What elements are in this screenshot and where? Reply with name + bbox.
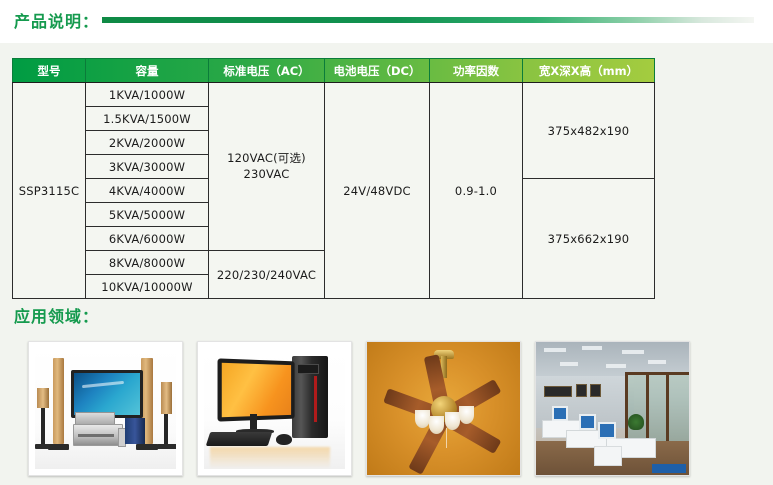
desk-monitor: [552, 406, 568, 421]
thumbnail-ceiling-fan[interactable]: 吊扇: [366, 341, 521, 476]
av-receiver: [73, 424, 123, 446]
home-theater-image: 家庭影院: [35, 348, 176, 469]
table-row: SSP3115C 1KVA/1000W 120VAC(可选) 230VAC 24…: [13, 83, 655, 107]
section-title-applications: 应用领域：: [14, 303, 99, 327]
spec-table-header-row: 型号 容量 标准电压（AC） 电池电压（DC） 功率因数 宽X深X高（mm）: [13, 59, 655, 83]
spec-table-body: SSP3115C 1KVA/1000W 120VAC(可选) 230VAC 24…: [13, 83, 655, 299]
speaker-base-right: [136, 444, 158, 450]
cell-dimensions-group-2: 375x662x190: [523, 179, 655, 299]
wall-artwork: [590, 384, 601, 397]
section-heading-product-description: 产品说明：: [14, 8, 754, 32]
keyboard: [206, 432, 273, 446]
column-header-ac-voltage: 标准电压（AC）: [209, 59, 325, 83]
cell-capacity-value: 5KVA/5000W: [86, 203, 209, 227]
office-interior-image: 办公室: [536, 342, 689, 475]
column-header-capacity: 容量: [86, 59, 209, 83]
speaker-stand-left: [41, 408, 45, 444]
ac-voltage-line-2: 230VAC: [209, 167, 324, 183]
ac-voltage-line-1: 120VAC(可选): [209, 151, 324, 167]
cell-capacity-value: 4KVA/4000W: [86, 179, 209, 203]
column-header-dimensions: 宽X深X高（mm）: [523, 59, 655, 83]
speaker-stand-right: [164, 414, 168, 444]
desktop-computer-image: 电脑: [204, 348, 345, 469]
thumbnail-desktop-computer[interactable]: 电脑: [197, 341, 352, 476]
ceiling-light-panel: [582, 346, 602, 350]
column-header-power-factor: 功率因数: [430, 59, 523, 83]
pull-chain: [446, 428, 447, 448]
thumbnail-caption: 吊扇: [367, 342, 368, 343]
mouse: [276, 434, 292, 445]
office-plant: [628, 414, 644, 430]
cell-capacity-value: 1KVA/1000W: [86, 83, 209, 107]
ceiling-light-panel: [648, 360, 666, 364]
wall-artwork: [544, 386, 572, 397]
application-thumbnail-row: 家庭影院 电脑: [28, 341, 690, 476]
thumbnail-caption: 电脑: [204, 348, 205, 349]
light-shade: [415, 410, 430, 428]
ceiling-light-panel: [606, 364, 626, 368]
flat-screen-tv: [71, 370, 143, 418]
partition-mullion: [666, 372, 669, 444]
cell-ac-voltage-group-1: 120VAC(可选) 230VAC: [209, 83, 325, 251]
desk-monitor: [579, 414, 596, 430]
desk-monitor: [598, 422, 616, 439]
speaker-foot-right: [157, 444, 176, 449]
section-title-product-description: 产品说明：: [14, 8, 99, 32]
section-heading-applications: 应用领域：: [14, 303, 99, 327]
wall-artwork: [576, 384, 587, 397]
column-header-model: 型号: [13, 59, 86, 83]
office-chair: [594, 446, 622, 466]
light-shade: [445, 412, 460, 430]
satellite-speaker-right: [161, 382, 172, 414]
cell-dc-voltage-value: 24V/48VDC: [325, 83, 430, 299]
cell-ac-voltage-group-2: 220/230/240VAC: [209, 251, 325, 299]
thumbnail-home-theater-system[interactable]: 家庭影院: [28, 341, 183, 476]
ceiling-light-panel: [560, 362, 578, 366]
subwoofer: [125, 418, 145, 444]
computer-tower: [292, 356, 328, 438]
spec-table-header: 型号 容量 标准电压（AC） 电池电压（DC） 功率因数 宽X深X高（mm）: [13, 59, 655, 83]
ceiling-light-panel: [544, 348, 566, 352]
cell-capacity-value: 2KVA/2000W: [86, 131, 209, 155]
specification-table: 型号 容量 标准电压（AC） 电池电压（DC） 功率因数 宽X深X高（mm） S…: [12, 58, 655, 299]
ceiling-fan-image: 吊扇: [367, 342, 520, 475]
light-shade: [459, 406, 474, 424]
thumbnail-office-interior[interactable]: 办公室: [535, 341, 690, 476]
cell-capacity-value: 1.5KVA/1500W: [86, 107, 209, 131]
light-shade: [429, 416, 444, 434]
cell-capacity-value: 8KVA/8000W: [86, 251, 209, 275]
cell-capacity-value: 10KVA/10000W: [86, 275, 209, 299]
glass-partition: [625, 372, 689, 447]
computer-monitor: [218, 358, 295, 421]
column-header-dc-voltage: 电池电压（DC）: [325, 59, 430, 83]
satellite-speaker-left: [37, 388, 49, 408]
product-spec-page: 产品说明： 型号 容量 标准电压（AC） 电池电压（DC） 功率因数 宽X深X高…: [0, 0, 773, 485]
cell-capacity-value: 6KVA/6000W: [86, 227, 209, 251]
partition-mullion: [646, 372, 649, 444]
cell-dimensions-group-1: 375x482x190: [523, 83, 655, 179]
image-watermark: [652, 464, 686, 473]
cell-model-value: SSP3115C: [13, 83, 86, 299]
thumbnail-caption: 家庭影院: [35, 348, 36, 349]
cell-capacity-value: 3KVA/3000W: [86, 155, 209, 179]
ceiling-light-panel: [622, 350, 644, 354]
speaker-tower-left: [53, 358, 64, 444]
heading-rule-gradient: [102, 17, 754, 23]
monitor-stand: [250, 414, 257, 430]
desk-reflection: [210, 447, 330, 469]
speaker-foot-left: [35, 444, 53, 449]
cell-power-factor-value: 0.9-1.0: [430, 83, 523, 299]
